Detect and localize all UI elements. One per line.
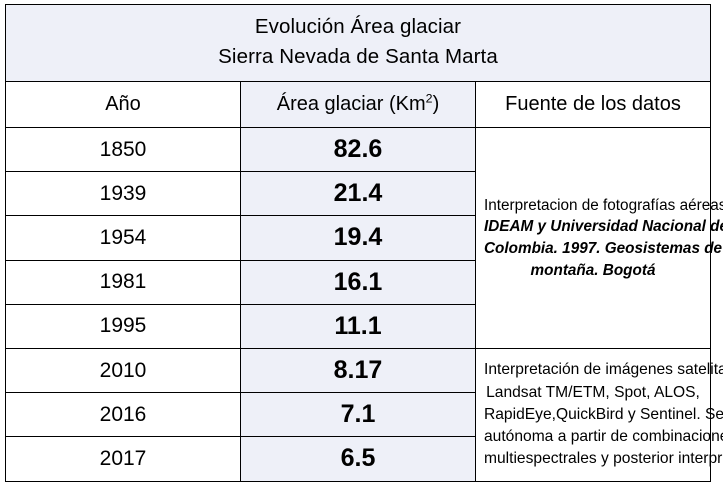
cell-year: 2017	[6, 437, 241, 481]
table-title-row: Evolución Área glaciar Sierra Nevada de …	[6, 5, 711, 82]
source-aerial-line-3: Colombia. 1997. Geosistemas de la alta	[484, 238, 702, 260]
column-header-year-label: Año	[105, 93, 141, 116]
source-aerial-line-1: Interpretacion de fotografías aéreas.	[484, 195, 702, 217]
column-header-year: Año	[6, 82, 241, 128]
column-header-source: Fuente de los datos	[476, 82, 711, 128]
table-row: 1850 82.6 Interpretacion de fotografías …	[6, 128, 711, 172]
cell-year: 1981	[6, 260, 241, 304]
column-header-area-exponent: 2	[426, 91, 433, 105]
source-satellite-line-1: Interpretación de imágenes satelitales	[484, 359, 702, 381]
source-satellite-line-3: RapidEye,QuickBird y Sentinel. Selección	[484, 404, 702, 426]
spreadsheet-sheet: Evolución Área glaciar Sierra Nevada de …	[0, 0, 723, 465]
column-header-area-prefix: Área glaciar (Km	[277, 93, 426, 116]
cell-year: 1954	[6, 216, 241, 260]
source-aerial-line-4: montaña. Bogotá	[484, 260, 702, 282]
cell-source-aerial: Interpretacion de fotografías aéreas. ID…	[476, 128, 711, 349]
column-header-area: Área glaciar (Km2)	[241, 82, 476, 128]
table-header-row: Año Área glaciar (Km2) Fuente de los dat…	[6, 82, 711, 128]
glacier-area-table: Evolución Área glaciar Sierra Nevada de …	[5, 4, 711, 482]
column-header-source-label: Fuente de los datos	[505, 93, 681, 116]
cell-area: 21.4	[241, 172, 476, 216]
cell-area: 19.4	[241, 216, 476, 260]
source-aerial-line-2: IDEAM y Universidad Nacional de	[484, 216, 702, 238]
cell-area: 11.1	[241, 304, 476, 348]
cell-year: 1850	[6, 128, 241, 172]
title-line-1: Evolución Área glaciar	[10, 12, 706, 42]
cell-area: 7.1	[241, 393, 476, 437]
table-row: 2010 8.17 Interpretación de imágenes sat…	[6, 348, 711, 392]
cell-year: 1995	[6, 304, 241, 348]
cell-source-satellite: Interpretación de imágenes satelitales L…	[476, 348, 711, 481]
source-satellite-line-5: multiespectrales y posterior interpretac…	[484, 448, 702, 470]
title-line-2: Sierra Nevada de Santa Marta	[10, 42, 706, 72]
cell-area: 16.1	[241, 260, 476, 304]
cell-year: 1939	[6, 172, 241, 216]
column-header-area-suffix: )	[433, 93, 440, 116]
source-satellite-line-2: Landsat TM/ETM, Spot, ALOS,	[484, 382, 702, 404]
cell-year: 2010	[6, 348, 241, 392]
cell-area: 82.6	[241, 128, 476, 172]
table-title-cell: Evolución Área glaciar Sierra Nevada de …	[6, 5, 711, 82]
cell-area: 6.5	[241, 437, 476, 481]
cell-year: 2016	[6, 393, 241, 437]
cell-area: 8.17	[241, 348, 476, 392]
source-satellite-line-4: autónoma a partir de combinaciones	[484, 426, 702, 448]
